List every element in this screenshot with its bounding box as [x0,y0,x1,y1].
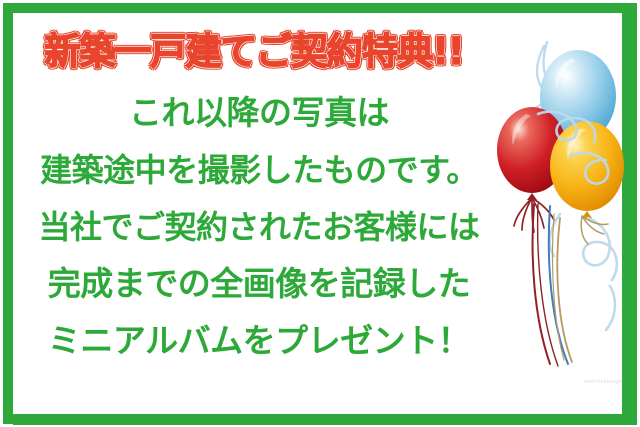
frame-right-band [622,3,637,425]
frame-bottom-band [13,414,637,425]
body-line-3: 当社でご契約されたお客様には [16,198,502,255]
body-line-1: これ以降の写真は [16,84,502,141]
poster-canvas: 新築一戸建てご契約特典!! これ以降の写真は 建築途中を撮影したものです。 当社… [0,0,640,427]
watermark-text: www.freeimage [584,379,622,385]
body-line-5: ミニアルバムをプレゼント！ [16,312,502,369]
poster-headline: 新築一戸建てご契約特典!! [44,33,463,70]
body-line-2: 建築途中を撮影したものです。 [16,141,502,198]
poster-body: これ以降の写真は 建築途中を撮影したものです。 当社でご契約されたお客様には 完… [16,84,502,369]
body-line-4: 完成までの全画像を記録した [16,255,502,312]
headline-container: 新築一戸建てご契約特典!! [14,26,494,76]
